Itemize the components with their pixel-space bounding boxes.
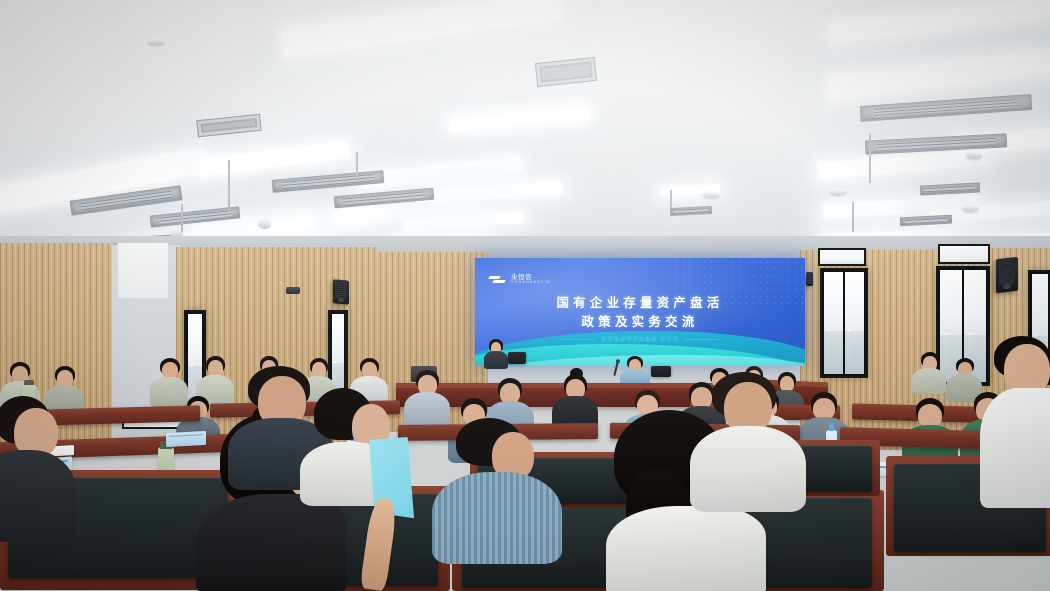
smoke-detector-icon [148, 38, 164, 45]
screen-title: 国有企业存量资产盘活 政策及实务交流 [475, 294, 805, 333]
torso [0, 450, 76, 542]
monitor [508, 352, 526, 364]
smoke-detector-icon [703, 191, 719, 198]
attendee [0, 396, 76, 536]
hvac-vent [865, 133, 1008, 154]
smoke-detector-icon [966, 152, 982, 159]
torso [690, 426, 806, 512]
led-panel-light [404, 212, 524, 231]
torso [606, 506, 766, 591]
led-panel-light [822, 195, 978, 220]
attendee [690, 372, 806, 506]
hvac-vent [70, 185, 183, 215]
wall-panel-left-white [118, 243, 168, 298]
ceiling-dome-light-icon [258, 219, 271, 229]
hvac-vent [272, 170, 385, 193]
screen-logo: 永恒信 YONGHENGXIN [489, 274, 551, 285]
window-transom-right-1 [818, 248, 866, 266]
light-drop-rod [228, 160, 230, 212]
brand-wordmark-sub: YONGHENGXIN [511, 281, 551, 285]
light-drop-rod [852, 202, 854, 232]
wall-speaker-right [996, 257, 1018, 293]
ceiling-projector [286, 287, 300, 294]
led-panel-light [828, 0, 1050, 44]
screen-title-line-2: 政策及实务交流 [475, 313, 805, 332]
smoke-detector-icon [830, 188, 846, 195]
conference-room-photo: 永恒信 YONGHENGXIN 国有企业存量资产盘活 政策及实务交流 永恒信咨询… [0, 0, 1050, 591]
projection-screen: 永恒信 YONGHENGXIN 国有企业存量资产盘活 政策及实务交流 永恒信咨询… [475, 258, 805, 366]
torso [980, 388, 1050, 508]
attendee-hand-holding-folder [356, 498, 402, 590]
attendee [912, 352, 946, 392]
led-panel-light [200, 141, 351, 176]
led-panel-light [827, 48, 1050, 100]
hvac-vent [535, 57, 597, 87]
hvac-vent [334, 188, 435, 209]
hvac-vent [920, 182, 980, 195]
hvac-vent [900, 215, 952, 227]
wall-speaker-center [806, 272, 813, 286]
torso [432, 472, 562, 564]
led-panel-light [0, 146, 210, 219]
smoke-detector-icon [962, 205, 978, 212]
light-drop-rod [181, 204, 183, 232]
wall-speaker-left [333, 279, 349, 304]
torso [484, 351, 508, 369]
brand-wordmark: 永恒信 YONGHENGXIN [511, 274, 551, 285]
light-drop-rod [670, 190, 672, 208]
led-panel-light [281, 0, 562, 57]
light-drop-rod [869, 133, 871, 183]
window-pane [824, 272, 843, 374]
attendee-foreground-right [984, 336, 1050, 516]
screen-title-line-1: 国有企业存量资产盘活 [475, 294, 805, 313]
attendee [432, 418, 562, 558]
led-panel-light [360, 157, 523, 190]
hvac-vent [150, 206, 241, 227]
attendee-head-table-left [484, 339, 508, 369]
forearm [360, 497, 399, 591]
torso [912, 368, 946, 394]
led-panel-light [423, 181, 564, 204]
window-right-1 [820, 268, 868, 378]
led-panel-light [818, 149, 989, 180]
window-pane [845, 272, 864, 374]
hvac-vent [196, 114, 261, 138]
led-panel-light [660, 184, 720, 196]
light-drop-rod [356, 152, 358, 176]
hvac-vent [860, 94, 1033, 122]
window-transom-right-2 [938, 244, 990, 264]
hvac-vent [670, 206, 712, 216]
brand-mark-icon [489, 274, 506, 285]
led-panel-light [955, 122, 1050, 156]
torso [196, 494, 346, 591]
led-panel-light [449, 106, 590, 132]
led-panel-light [930, 200, 1050, 223]
monitor [651, 366, 671, 377]
led-panel-light [333, 199, 479, 226]
